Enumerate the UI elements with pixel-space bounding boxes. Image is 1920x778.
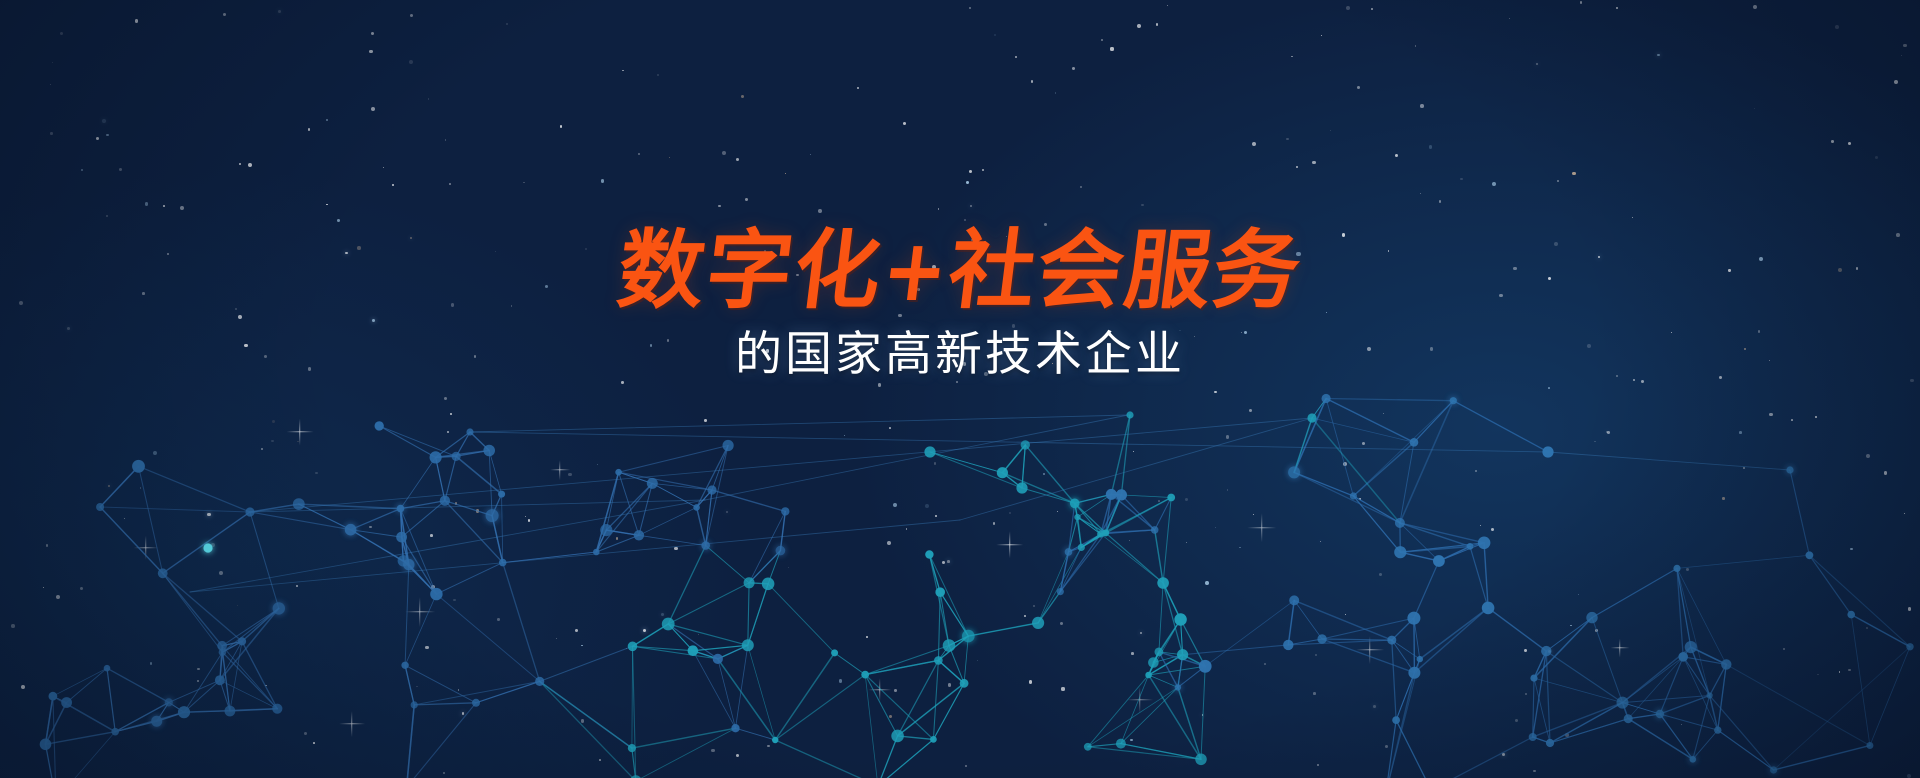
page-subtitle: 的国家高新技术企业	[0, 330, 1920, 379]
headline-block: 数字化+社会服务 的国家高新技术企业	[0, 228, 1920, 379]
banner-stage: 数字化+社会服务 的国家高新技术企业	[0, 0, 1920, 778]
network-mesh-graphic	[0, 0, 1920, 778]
page-title: 数字化+社会服务	[0, 228, 1920, 314]
